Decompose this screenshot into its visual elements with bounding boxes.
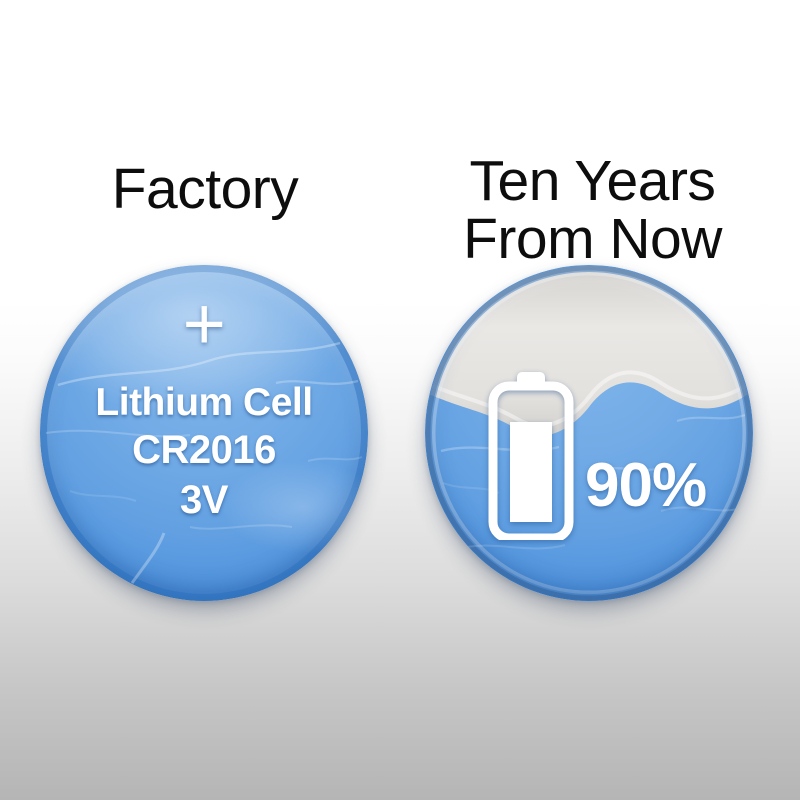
coin-cell-ten-years[interactable]: 90% [425, 265, 753, 601]
heading-ten-years-from-now: Ten Years From Now [420, 152, 765, 268]
battery-fill-level [510, 422, 552, 522]
battery-vertical-icon [485, 370, 577, 540]
polarity-plus-label: + [40, 287, 368, 361]
coin-cell-factory[interactable]: + Lithium Cell CR2016 3V [40, 265, 368, 601]
cell-voltage-label: 3V [40, 478, 368, 523]
cell-chemistry-label: Lithium Cell [40, 381, 368, 425]
cell-model-label: CR2016 [40, 428, 368, 473]
scene-canvas: Factory Ten Years From Now + Lithium Cel… [0, 0, 800, 800]
heading-factory: Factory [40, 160, 370, 218]
wrapper-crease-lines [425, 265, 753, 601]
charge-percent-label: 90% [585, 450, 706, 521]
